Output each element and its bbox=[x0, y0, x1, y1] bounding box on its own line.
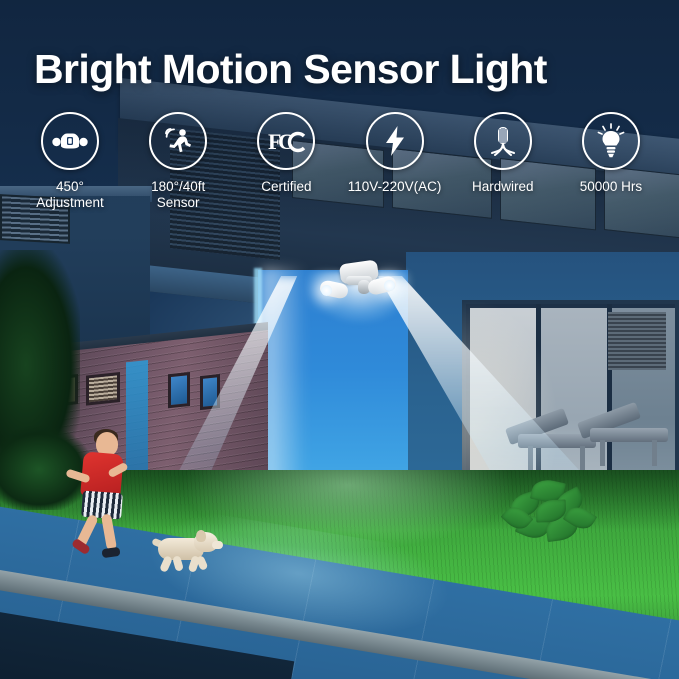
feature-badge-row: 450° Adjustment 180°/40ft Sensor F bbox=[18, 112, 663, 212]
running-dog bbox=[152, 528, 224, 574]
feature-badge-label: 450° Adjustment bbox=[36, 179, 104, 210]
dog-snout bbox=[212, 541, 223, 549]
feature-badge-adjustment: 450° Adjustment bbox=[18, 112, 122, 210]
dog-leg bbox=[159, 555, 173, 573]
svg-text:C: C bbox=[278, 129, 294, 154]
motion-sensor-floodlight-fixture bbox=[318, 258, 402, 302]
product-hero-image: Bright Motion Sensor Light 450° Adjustme… bbox=[0, 0, 679, 679]
boy-shoe bbox=[101, 547, 120, 558]
feature-badge-label: Hardwired bbox=[472, 179, 534, 195]
page-title: Bright Motion Sensor Light bbox=[34, 46, 644, 93]
hardwired-cable-icon bbox=[474, 112, 532, 170]
feature-badge-lifespan: 50000 Hrs bbox=[559, 112, 663, 195]
dog-leg bbox=[195, 555, 208, 571]
light-bulb-icon bbox=[582, 112, 640, 170]
lightning-bolt-icon bbox=[366, 112, 424, 170]
led-lens-right bbox=[384, 280, 395, 291]
feature-badge-hardwired: Hardwired bbox=[451, 112, 555, 195]
window-blind bbox=[608, 312, 666, 370]
feature-badge-certified: F C Certified bbox=[234, 112, 338, 195]
feature-badge-label: 110V-220V(AC) bbox=[348, 179, 442, 195]
fcc-logo-icon: F C bbox=[257, 112, 315, 170]
dog-ear bbox=[196, 530, 206, 542]
feature-badge-voltage: 110V-220V(AC) bbox=[343, 112, 447, 195]
adjustable-floodlight-icon bbox=[41, 112, 99, 170]
feature-badge-sensor: 180°/40ft Sensor bbox=[126, 112, 230, 210]
feature-badge-label: Certified bbox=[261, 179, 311, 195]
wood-wall-louver bbox=[86, 372, 120, 406]
running-boy bbox=[60, 432, 150, 562]
wood-wall-window bbox=[168, 372, 190, 408]
motion-sensor-running-person-icon bbox=[149, 112, 207, 170]
garden-shrub bbox=[500, 468, 610, 558]
led-lens-left bbox=[321, 285, 332, 296]
feature-badge-label: 50000 Hrs bbox=[580, 179, 642, 195]
feature-badge-label: 180°/40ft Sensor bbox=[151, 179, 205, 210]
